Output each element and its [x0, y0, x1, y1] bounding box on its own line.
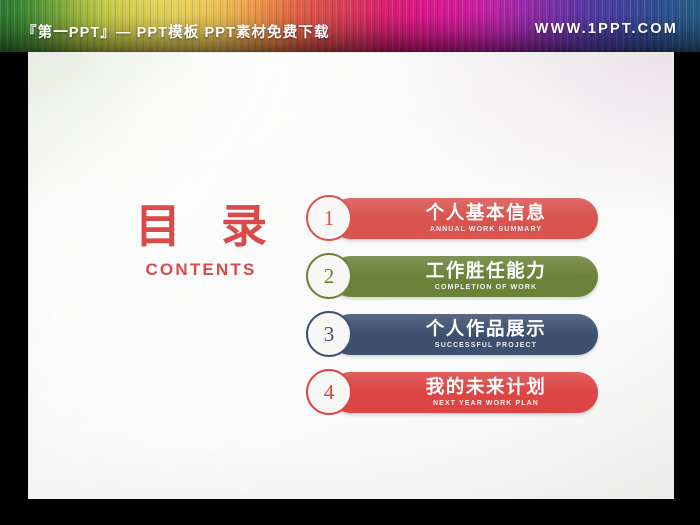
menu-item-bar[interactable]	[330, 256, 598, 297]
whiteboard-slide: 目 录 CONTENTS 个人基本信息ANNUAL WORK SUMMARY1工…	[28, 52, 674, 499]
menu-item-number-circle[interactable]: 2	[306, 253, 352, 299]
page-title: 目 录	[111, 203, 291, 251]
menu-item-bar[interactable]	[330, 372, 598, 413]
menu-item-bar[interactable]	[330, 314, 598, 355]
contents-menu-item[interactable]: 个人基本信息ANNUAL WORK SUMMARY1	[306, 195, 598, 241]
contents-menu-item[interactable]: 个人作品展示SUCCESSFUL PROJECT3	[306, 311, 598, 357]
page-subtitle: CONTENTS	[111, 260, 291, 280]
rainbow-header-band: 『第一PPT』— PPT模板 PPT素材免费下载 WWW.1PPT.COM	[0, 0, 700, 52]
menu-item-number-circle[interactable]: 4	[306, 369, 352, 415]
contents-menu-list: 个人基本信息ANNUAL WORK SUMMARY1工作胜任能力COMPLETI…	[306, 195, 598, 427]
contents-title-block: 目 录 CONTENTS	[111, 203, 291, 280]
menu-item-bar[interactable]	[330, 198, 598, 239]
menu-item-bar-gloss	[330, 372, 598, 393]
menu-item-number: 2	[324, 266, 335, 287]
menu-item-number-circle[interactable]: 1	[306, 195, 352, 241]
menu-item-number: 4	[324, 382, 335, 403]
header-website-url: WWW.1PPT.COM	[535, 21, 678, 37]
menu-item-bar-gloss	[330, 256, 598, 277]
menu-item-number: 1	[324, 208, 335, 229]
menu-item-number-circle[interactable]: 3	[306, 311, 352, 357]
slide-tint-right	[384, 53, 674, 214]
menu-item-bar-gloss	[330, 198, 598, 219]
menu-item-number: 3	[324, 324, 335, 345]
contents-menu-item[interactable]: 工作胜任能力COMPLETION OF WORK2	[306, 253, 598, 299]
slide-screen: 『第一PPT』— PPT模板 PPT素材免费下载 WWW.1PPT.COM 目 …	[0, 0, 700, 525]
header-brand-text: 『第一PPT』— PPT模板 PPT素材免费下载	[22, 21, 330, 42]
contents-menu-item[interactable]: 我的未来计划NEXT YEAR WORK PLAN4	[306, 369, 598, 415]
menu-item-bar-gloss	[330, 314, 598, 335]
slide-tint-left	[29, 53, 287, 222]
